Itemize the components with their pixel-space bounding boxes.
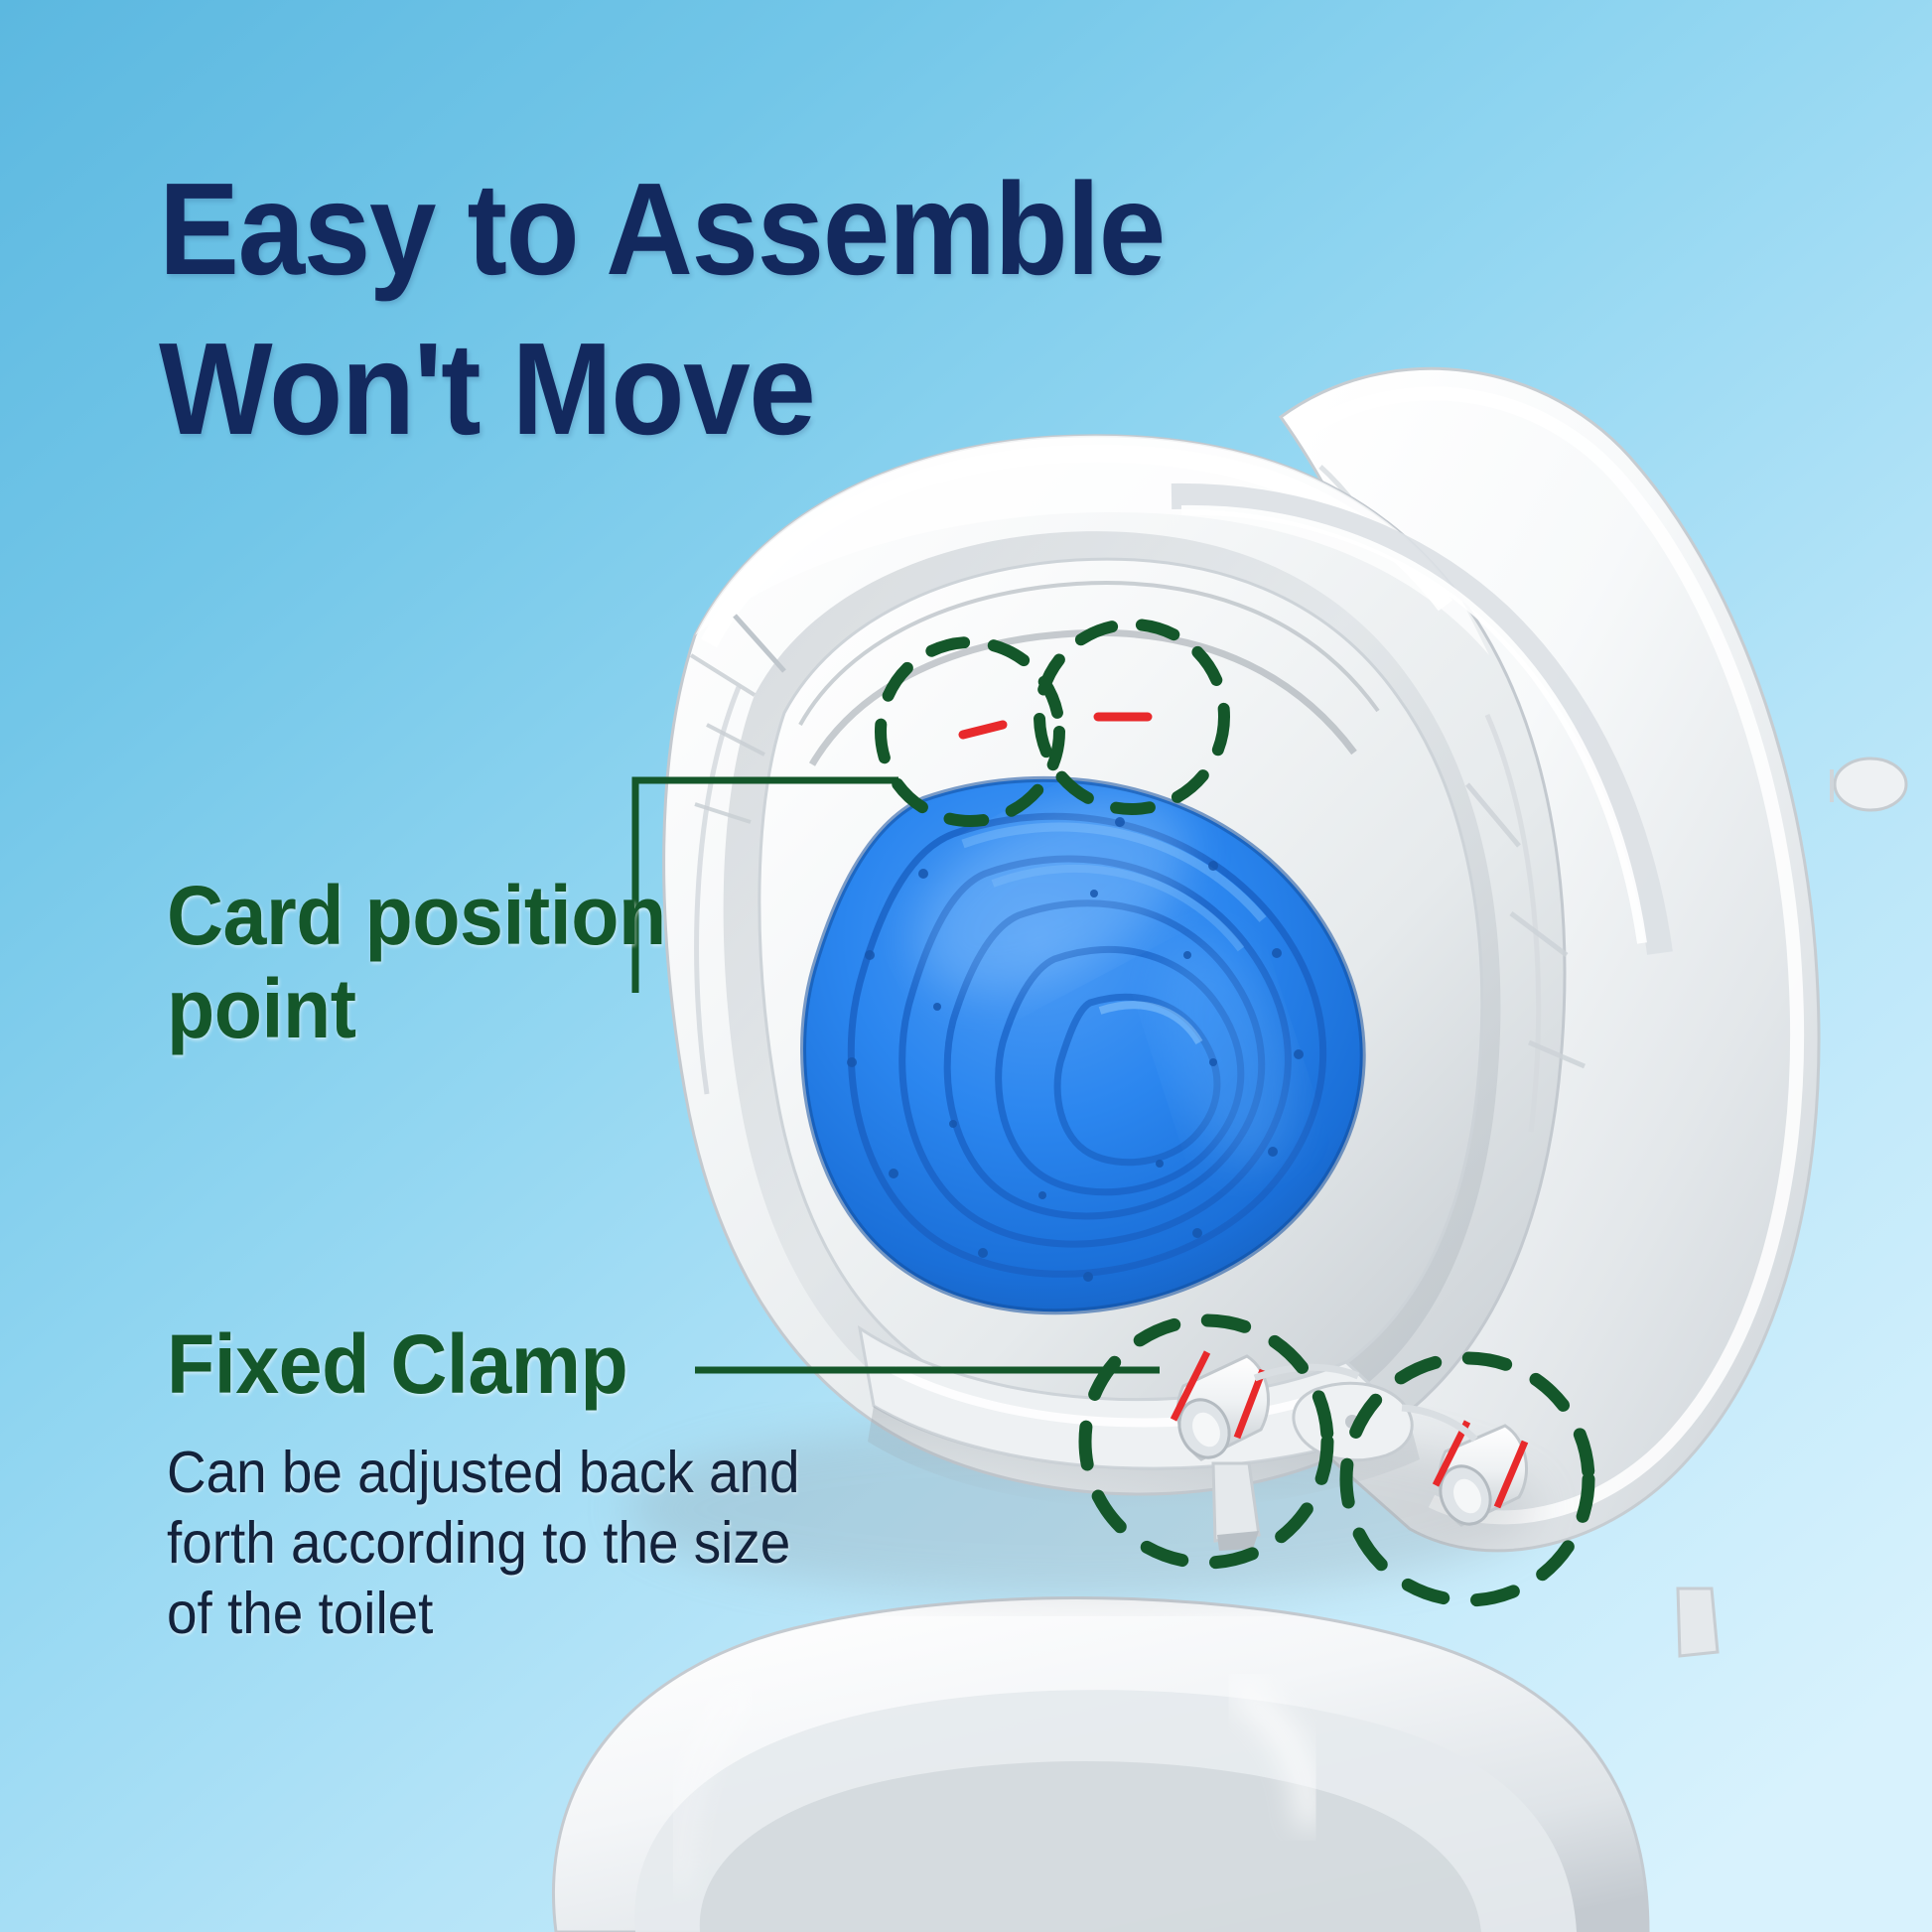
callout-fixed-clamp-body: Can be adjusted back and forth according… [167,1438,869,1648]
infographic-canvas: Easy to Assemble Won't Move Card positio… [0,0,1932,1932]
page-title: Easy to Assemble Won't Move [159,149,1455,469]
lid-bumper [1678,1588,1718,1656]
callout-fixed-clamp-title: Fixed Clamp [167,1320,627,1408]
callout-card-position-title: Card position point [167,869,727,1055]
seat-bumper [1213,1463,1259,1541]
